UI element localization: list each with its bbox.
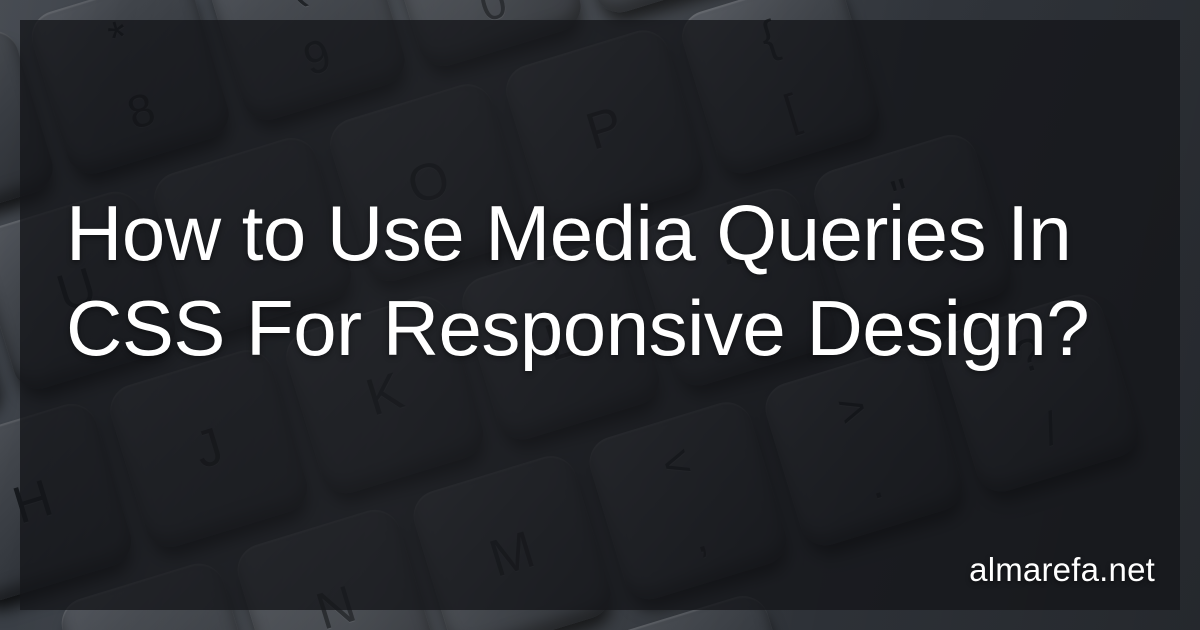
page-title: How to Use Media Queries In CSS For Resp… [66,186,1136,376]
social-share-card: ^ 6 & 7 * 8 ( 9 ) 0 [0,0,1200,630]
key-legend-upper: ( [279,0,309,11]
site-watermark: almarefa.net [969,551,1155,589]
